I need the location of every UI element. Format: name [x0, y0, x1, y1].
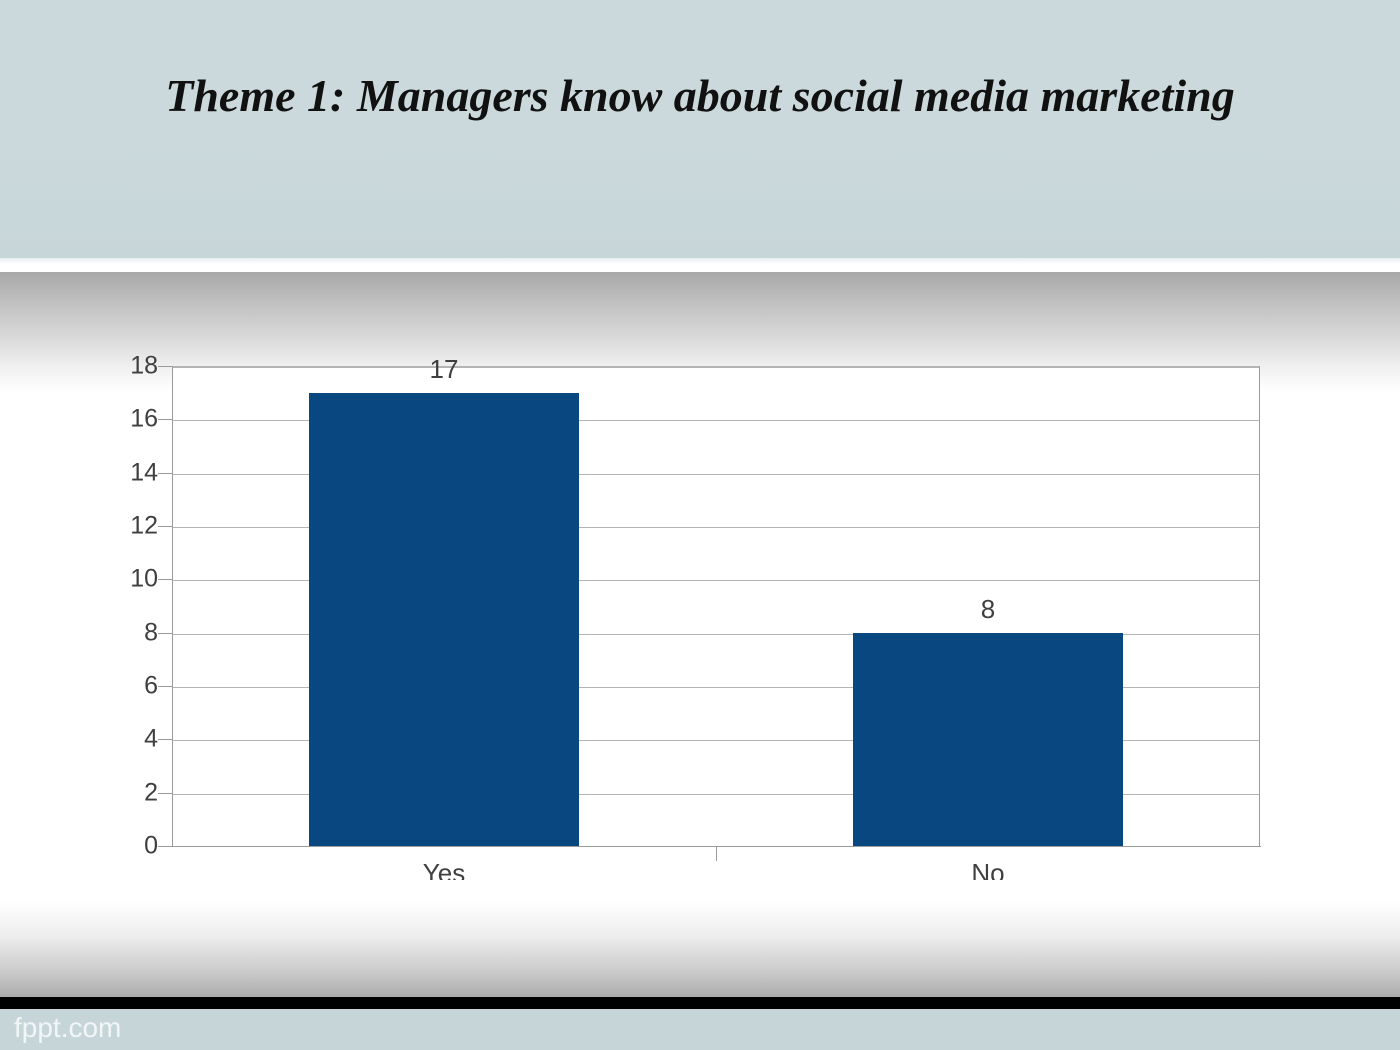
- y-axis-tick-mark: [158, 419, 172, 420]
- y-axis-tick-label: 8: [98, 618, 158, 647]
- y-axis-tick-mark: [158, 686, 172, 687]
- y-axis-tick-label: 0: [98, 832, 158, 861]
- y-axis-tick-mark: [158, 473, 172, 474]
- y-axis-tick-mark: [158, 579, 172, 580]
- footer-watermark: fppt.com: [14, 1012, 121, 1044]
- x-axis-category-tick: [716, 847, 717, 861]
- bar-value-label: 8: [853, 594, 1123, 625]
- y-axis-tick-mark: [158, 846, 172, 847]
- bar-yes[interactable]: [309, 393, 579, 846]
- y-axis-tick-label: 18: [98, 352, 158, 381]
- header-white-strip: [0, 258, 1400, 272]
- bar-no[interactable]: [853, 633, 1123, 846]
- y-axis-tick-label: 14: [98, 458, 158, 487]
- y-axis-tick-mark: [158, 633, 172, 634]
- bottom-gradient: [0, 880, 1400, 997]
- y-axis-tick-label: 12: [98, 512, 158, 541]
- footer-band: [0, 1009, 1400, 1050]
- y-axis-tick-label: 10: [98, 565, 158, 594]
- y-axis-tick-mark: [158, 739, 172, 740]
- page-title: Theme 1: Managers know about social medi…: [100, 62, 1300, 130]
- y-axis-tick-labels: 181614121086420: [90, 366, 158, 846]
- bottom-black-bar: [0, 997, 1400, 1009]
- y-axis-tick-mark: [158, 526, 172, 527]
- bar-value-label: 17: [309, 354, 579, 385]
- y-axis-tick-label: 16: [98, 405, 158, 434]
- y-axis-tick-mark: [158, 793, 172, 794]
- slide-canvas: Theme 1: Managers know about social medi…: [0, 0, 1400, 1050]
- y-axis-tick-mark: [158, 366, 172, 367]
- bar-chart: 181614121086420 17Yes8No: [0, 330, 1400, 900]
- y-axis-tick-label: 2: [98, 778, 158, 807]
- y-axis-tick-label: 4: [98, 725, 158, 754]
- y-axis-tick-label: 6: [98, 672, 158, 701]
